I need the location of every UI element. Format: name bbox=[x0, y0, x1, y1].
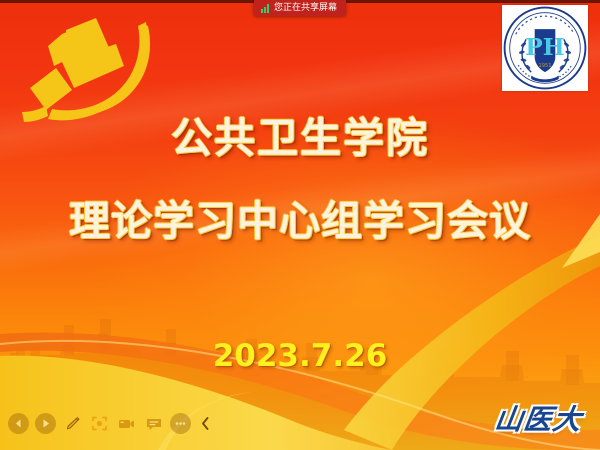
screen-share-indicator[interactable]: 您正在共享屏幕 bbox=[254, 0, 346, 16]
video-icon[interactable] bbox=[116, 413, 137, 434]
logo-year: 1951 bbox=[538, 63, 551, 69]
previous-slide-icon[interactable] bbox=[8, 413, 29, 434]
slide-screen: PH 1951 公共卫生学院 理论学习中心组学习会议 2023.7.26 山医大… bbox=[0, 0, 600, 450]
hammer-and-sickle-emblem bbox=[0, 4, 166, 134]
focus-frame-icon[interactable] bbox=[89, 413, 110, 434]
slide-date: 2023.7.26 bbox=[0, 338, 600, 374]
more-options-icon[interactable] bbox=[170, 413, 191, 434]
play-icon[interactable] bbox=[35, 413, 56, 434]
university-watermark: 山医大 bbox=[492, 398, 585, 438]
screen-share-label: 您正在共享屏幕 bbox=[274, 4, 337, 13]
chevron-left-icon[interactable] bbox=[197, 413, 213, 434]
slide-title-block: 公共卫生学院 理论学习中心组学习会议 bbox=[0, 118, 600, 242]
slide-title-line-2: 理论学习中心组学习会议 bbox=[0, 201, 600, 242]
slide-title-line-1: 公共卫生学院 bbox=[0, 118, 600, 159]
presenter-toolbar[interactable] bbox=[4, 410, 217, 436]
logo-monogram: PH bbox=[525, 34, 564, 61]
signal-bars-icon bbox=[261, 4, 269, 13]
chat-icon[interactable] bbox=[143, 413, 164, 434]
pen-icon[interactable] bbox=[62, 413, 83, 434]
university-seal-logo: PH 1951 bbox=[502, 5, 588, 91]
